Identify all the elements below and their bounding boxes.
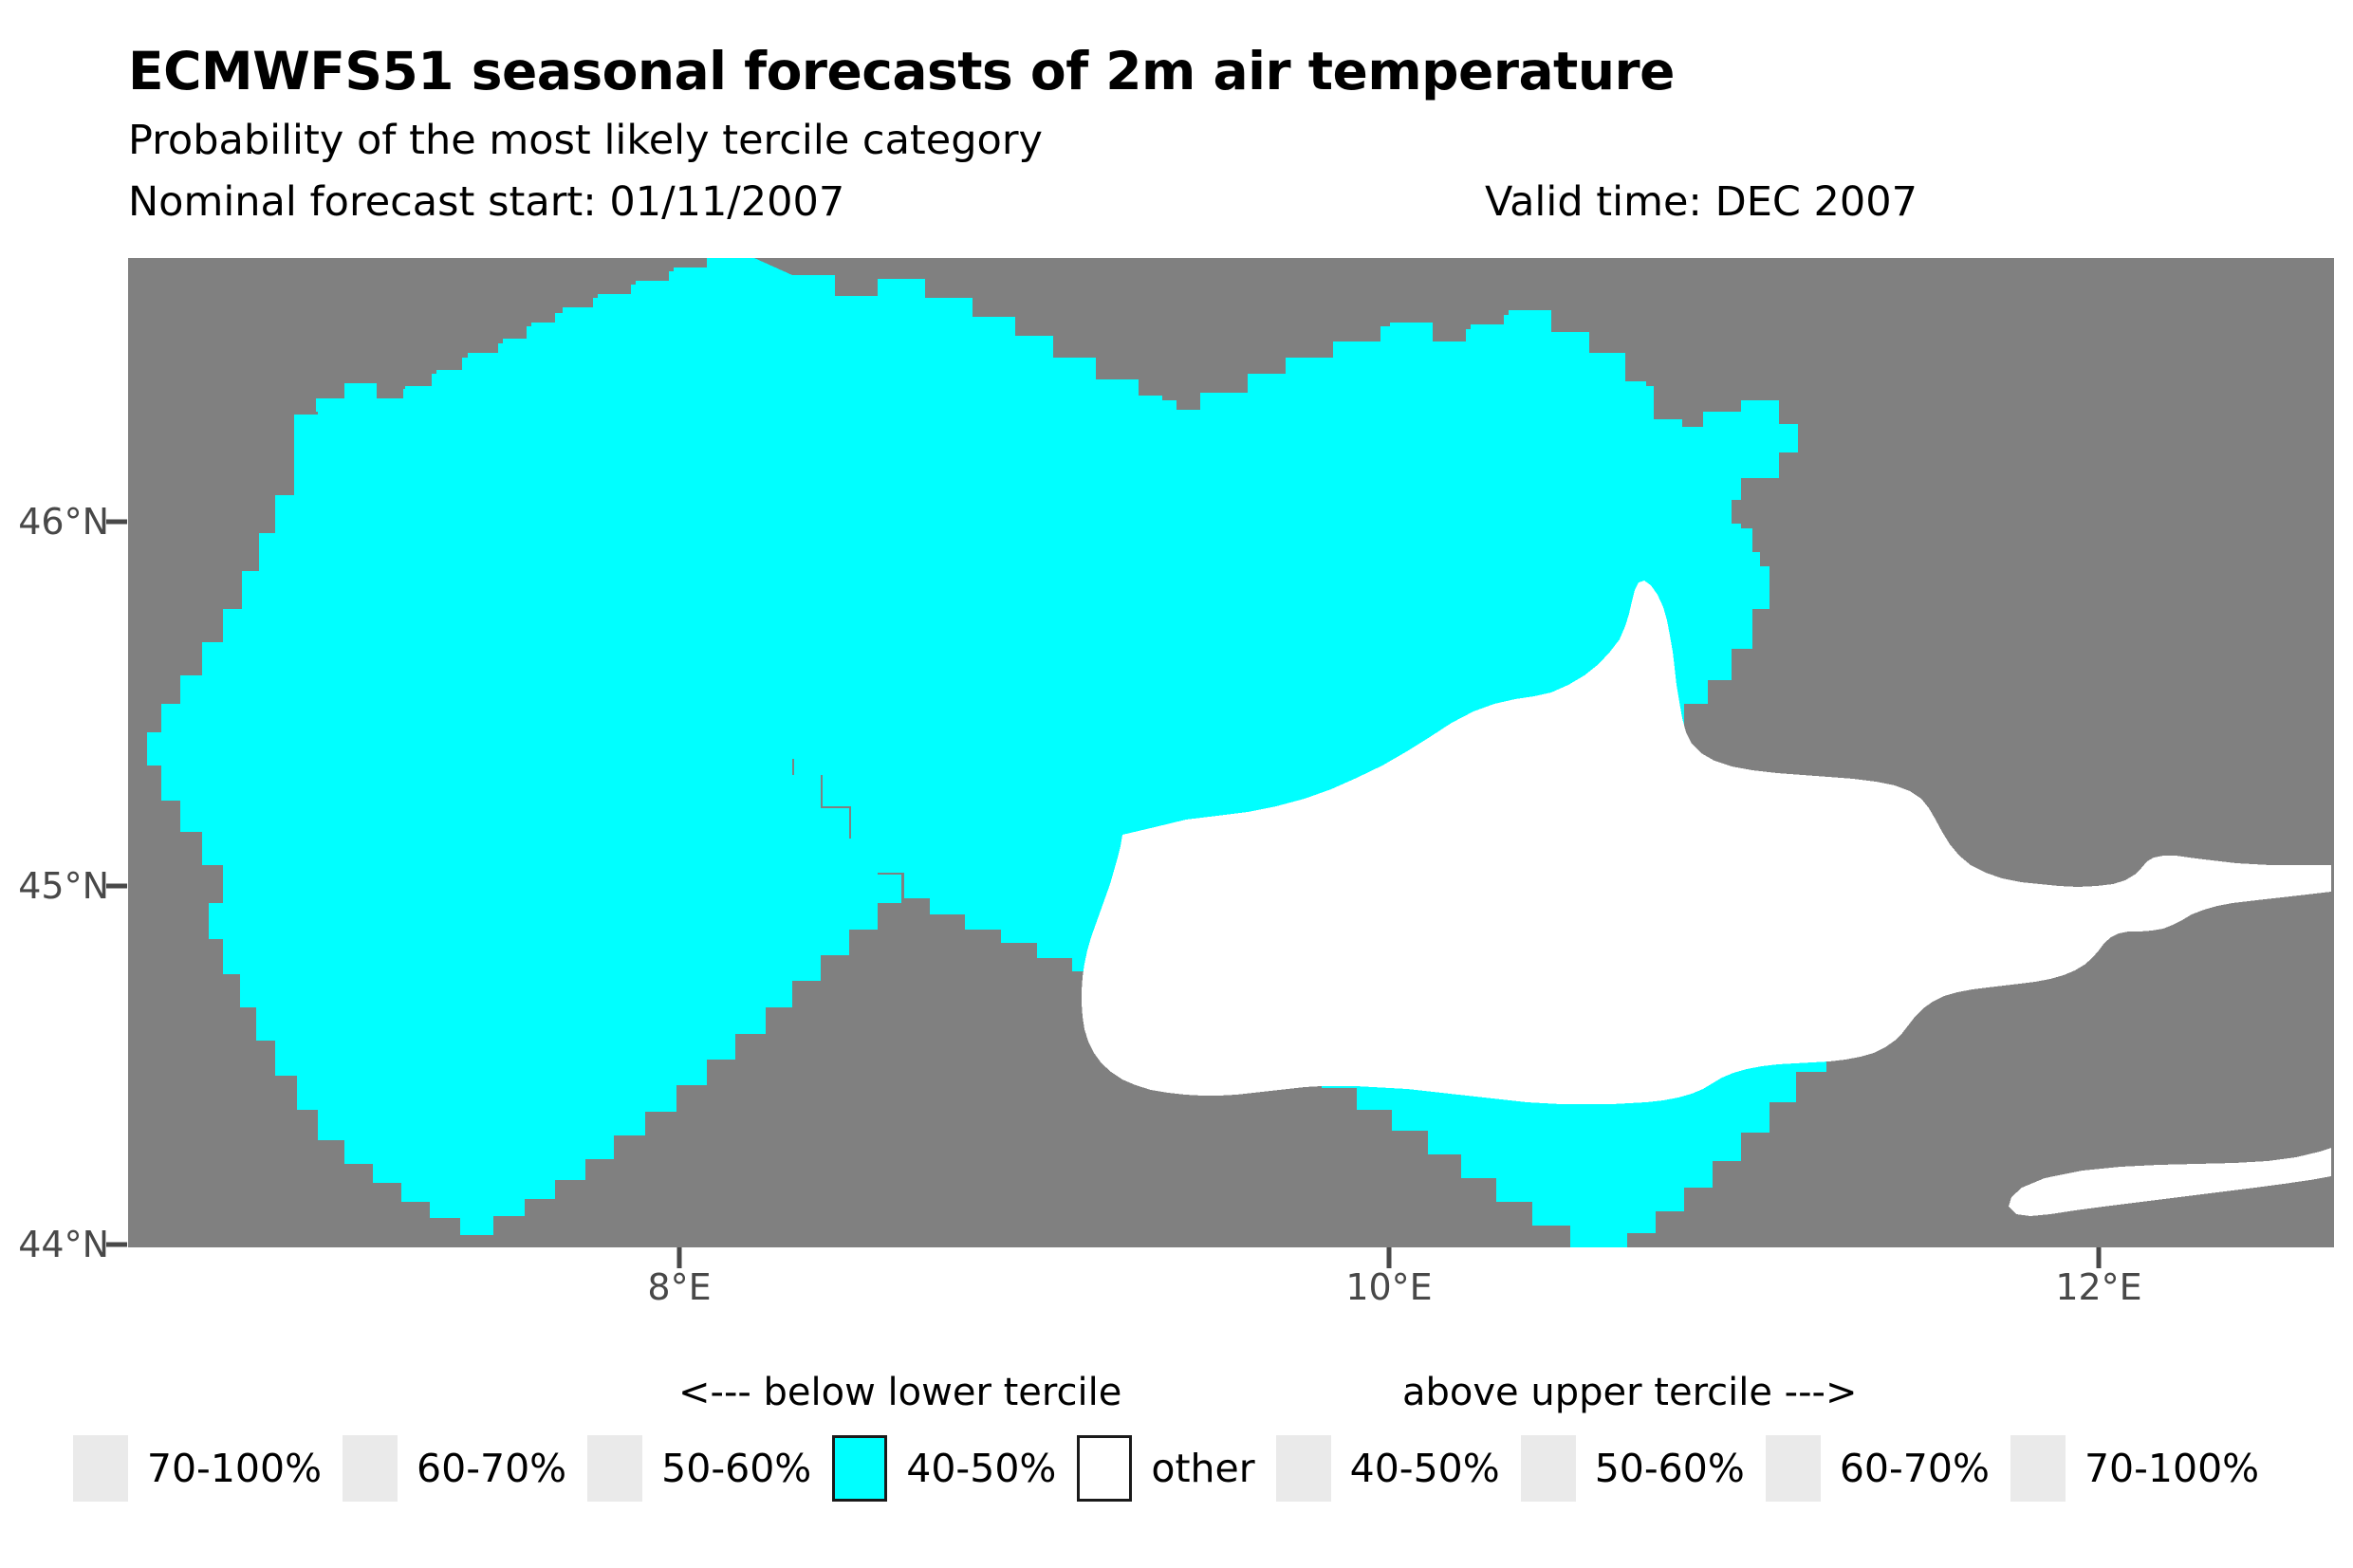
- legend-label: 70-100%: [128, 1446, 343, 1491]
- legend-item[interactable]: 50-60%: [1521, 1435, 1766, 1502]
- ytick-mark-45n: [106, 884, 127, 889]
- legend-swatch: [1077, 1435, 1132, 1502]
- legend-swatch: [343, 1435, 398, 1502]
- xtick-mark-10e: [1387, 1247, 1392, 1268]
- legend-label: 50-60%: [642, 1446, 832, 1491]
- ytick-label-44n: 44°N: [18, 1224, 109, 1265]
- xtick-label-10e: 10°E: [1345, 1266, 1432, 1308]
- legend: 70-100%60-70%50-60%40-50%other40-50%50-6…: [0, 1428, 2353, 1508]
- legend-below-tercile-label: <--- below lower tercile: [678, 1371, 1121, 1414]
- legend-item[interactable]: 70-100%: [73, 1435, 343, 1502]
- page-title: ECMWFS51 seasonal forecasts of 2m air te…: [128, 46, 2215, 98]
- page-subtitle: Probability of the most likely tercile c…: [128, 120, 2215, 161]
- legend-item[interactable]: 70-100%: [2010, 1435, 2280, 1502]
- map-raster: [128, 258, 2334, 1247]
- xtick-label-12e: 12°E: [2055, 1266, 2141, 1308]
- xtick-mark-12e: [2097, 1247, 2102, 1268]
- title-block: ECMWFS51 seasonal forecasts of 2m air te…: [128, 46, 2215, 228]
- legend-item[interactable]: 40-50%: [832, 1435, 1077, 1502]
- legend-direction-row: <--- below lower tercile above upper ter…: [0, 1371, 2353, 1418]
- ytick-label-46n: 46°N: [18, 501, 109, 543]
- meta-row: Nominal forecast start: 01/11/2007 Valid…: [128, 178, 2215, 228]
- xtick-label-8e: 8°E: [647, 1266, 711, 1308]
- legend-item[interactable]: 60-70%: [1766, 1435, 2010, 1502]
- xtick-mark-8e: [677, 1247, 682, 1268]
- legend-label: 40-50%: [1331, 1446, 1521, 1491]
- legend-label: 40-50%: [887, 1446, 1077, 1491]
- legend-swatch: [1766, 1435, 1821, 1502]
- legend-swatch: [1521, 1435, 1576, 1502]
- legend-item[interactable]: other: [1077, 1435, 1275, 1502]
- forecast-start-label: Nominal forecast start: 01/11/2007: [128, 178, 844, 226]
- legend-label: 60-70%: [1821, 1446, 2010, 1491]
- legend-swatch: [1276, 1435, 1331, 1502]
- legend-item[interactable]: 40-50%: [1276, 1435, 1521, 1502]
- map-panel: [128, 258, 2334, 1247]
- legend-label: 70-100%: [2066, 1446, 2280, 1491]
- legend-above-tercile-label: above upper tercile --->: [1402, 1371, 1858, 1414]
- legend-label: 50-60%: [1576, 1446, 1766, 1491]
- legend-item[interactable]: 60-70%: [343, 1435, 587, 1502]
- ytick-mark-46n: [106, 520, 127, 525]
- ytick-label-45n: 45°N: [18, 865, 109, 907]
- legend-label: 60-70%: [398, 1446, 587, 1491]
- valid-time-label: Valid time: DEC 2007: [1485, 178, 1918, 226]
- ytick-mark-44n: [106, 1243, 127, 1247]
- legend-item[interactable]: 50-60%: [587, 1435, 832, 1502]
- legend-label: other: [1132, 1446, 1275, 1491]
- legend-swatch: [587, 1435, 642, 1502]
- legend-swatch: [832, 1435, 887, 1502]
- legend-swatch: [2010, 1435, 2066, 1502]
- legend-swatch: [73, 1435, 128, 1502]
